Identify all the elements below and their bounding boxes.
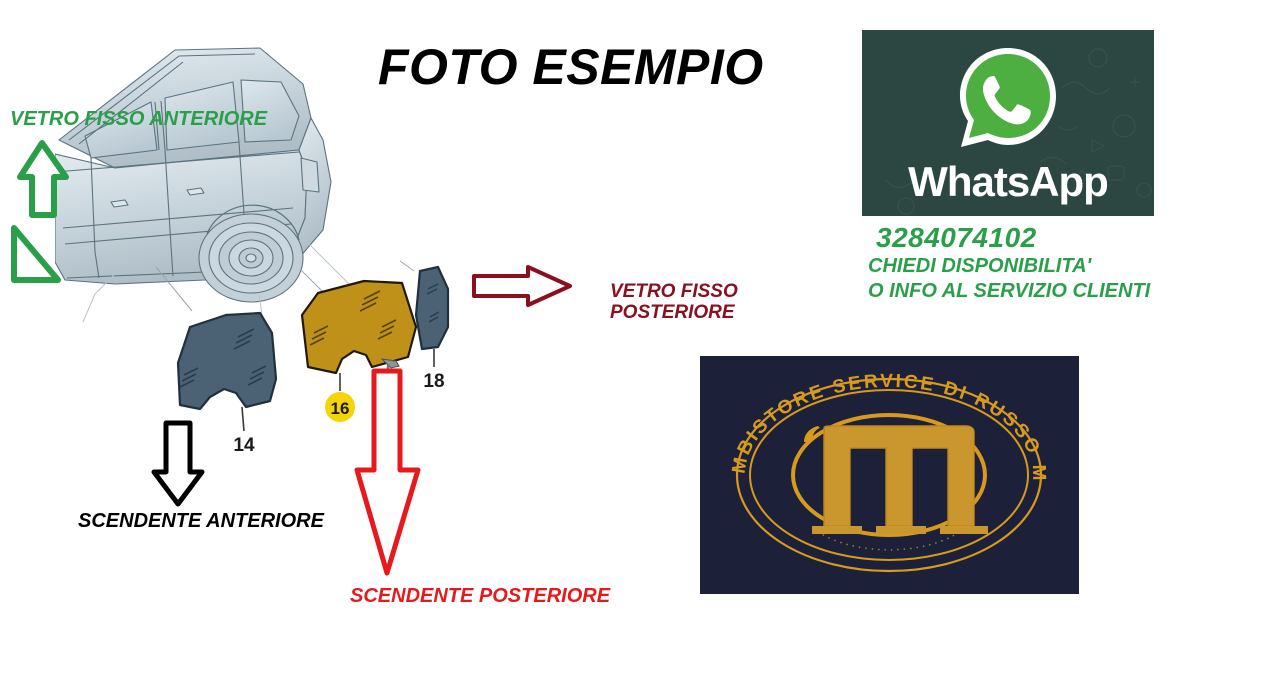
label-vetro-fisso-posteriore-line2: POSTERIORE <box>610 302 738 323</box>
glass-part-14: 14 <box>178 313 276 455</box>
contact-line-2: O INFO AL SERVIZIO CLIENTI <box>868 279 1150 304</box>
shop-logo-plate: MRICAMBISTORE SERVICE DI RUSSO MARCO • •… <box>700 356 1079 594</box>
contact-block: 3284074102 CHIEDI DISPONIBILITA' O INFO … <box>868 222 1150 304</box>
part-number-14: 14 <box>233 435 255 455</box>
part-number-18: 18 <box>423 371 444 392</box>
whatsapp-wordmark: WhatsApp <box>862 158 1154 206</box>
contact-line-1: CHIEDI DISPONIBILITA' <box>868 254 1150 279</box>
page-title: FOTO ESEMPIO <box>378 38 764 96</box>
part-number-16: 16 <box>331 399 350 418</box>
exploded-glass-parts: 14 16 17 <box>150 255 490 455</box>
part-number-17: 17 <box>379 399 400 420</box>
label-scendente-posteriore: SCENDENTE POSTERIORE <box>350 585 610 607</box>
label-vetro-fisso-posteriore-line1: VETRO FISSO <box>610 281 738 302</box>
whatsapp-banner: WhatsApp <box>862 30 1154 216</box>
phone-number[interactable]: 3284074102 <box>868 222 1150 254</box>
triangle-outline-green-icon <box>14 228 58 280</box>
glass-part-18: 18 <box>416 267 448 392</box>
exploded-parts-diagram-page: 14 16 17 <box>0 0 1264 678</box>
shop-logo-graphic: MRICAMBISTORE SERVICE DI RUSSO MARCO • •… <box>700 356 1079 594</box>
shop-logo-monogram <box>804 426 988 534</box>
label-vetro-fisso-anteriore: VETRO FISSO ANTERIORE <box>10 108 267 130</box>
whatsapp-logo-icon <box>954 44 1062 156</box>
label-scendente-anteriore: SCENDENTE ANTERIORE <box>78 510 324 532</box>
label-vetro-fisso-posteriore: VETRO FISSO POSTERIORE <box>610 281 738 324</box>
shop-logo-ring-text: MRICAMBISTORE SERVICE DI RUSSO MARCO <box>700 356 1049 483</box>
glass-part-17: 17 <box>379 359 400 420</box>
